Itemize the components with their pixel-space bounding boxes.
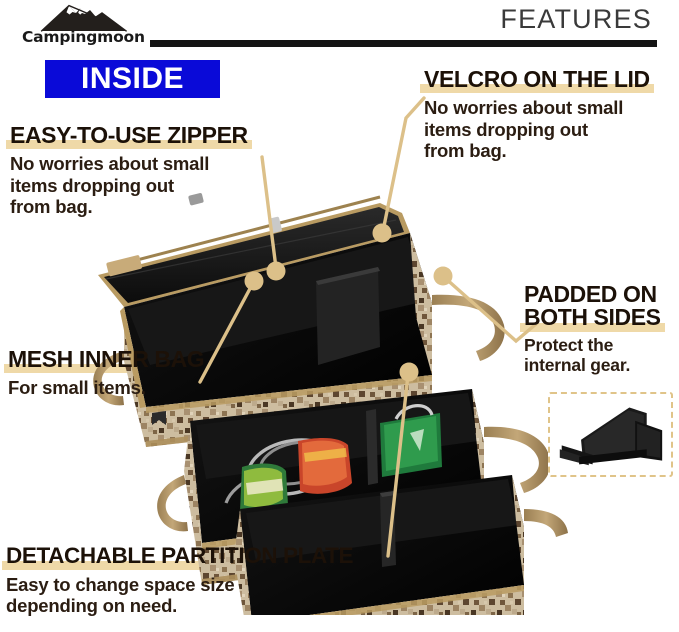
page-title: FEATURES <box>500 4 652 35</box>
header-divider <box>150 40 657 47</box>
feature-padded-on-both-sides: PADDED ON BOTH SIDES Protect the interna… <box>524 283 679 376</box>
feature-heading: VELCRO ON THE LID <box>424 68 650 93</box>
feature-heading: PADDED ON BOTH SIDES <box>524 283 661 332</box>
feature-body: Protect the internal gear. <box>524 336 679 376</box>
feature-mesh-inner-bag: MESH INNER BAG For small items. <box>8 348 248 399</box>
feature-body: No worries about small items dropping ou… <box>10 153 275 216</box>
feature-body: No worries about small items dropping ou… <box>424 97 674 160</box>
feature-detachable-partition-plate: DETACHABLE PARTITION PLATE Easy to chang… <box>6 545 406 616</box>
brand-wordmark: Campingmoon <box>22 28 144 46</box>
feature-heading: MESH INNER BAG <box>8 348 204 373</box>
gear-canister-red <box>298 438 352 494</box>
infographic-page: Campingmoon FEATURES INSIDE <box>0 0 679 632</box>
feature-heading-line2: BOTH SIDES <box>524 304 661 330</box>
inset-photo-partition-plates <box>548 392 673 477</box>
brand-logo: Campingmoon <box>22 2 144 48</box>
feature-easy-to-use-zipper: EASY-TO-USE ZIPPER No worries about smal… <box>10 124 275 217</box>
status-badge-inside: INSIDE <box>45 60 220 98</box>
feature-body: For small items. <box>8 377 248 398</box>
partition-plates-image <box>554 398 667 471</box>
feature-heading: EASY-TO-USE ZIPPER <box>10 124 248 149</box>
feature-heading-line1: PADDED ON <box>524 281 657 307</box>
feature-velcro-on-the-lid: VELCRO ON THE LID No worries about small… <box>424 68 674 161</box>
feature-heading: DETACHABLE PARTITION PLATE <box>6 545 353 570</box>
feature-body: Easy to change space size depending on n… <box>6 574 406 616</box>
